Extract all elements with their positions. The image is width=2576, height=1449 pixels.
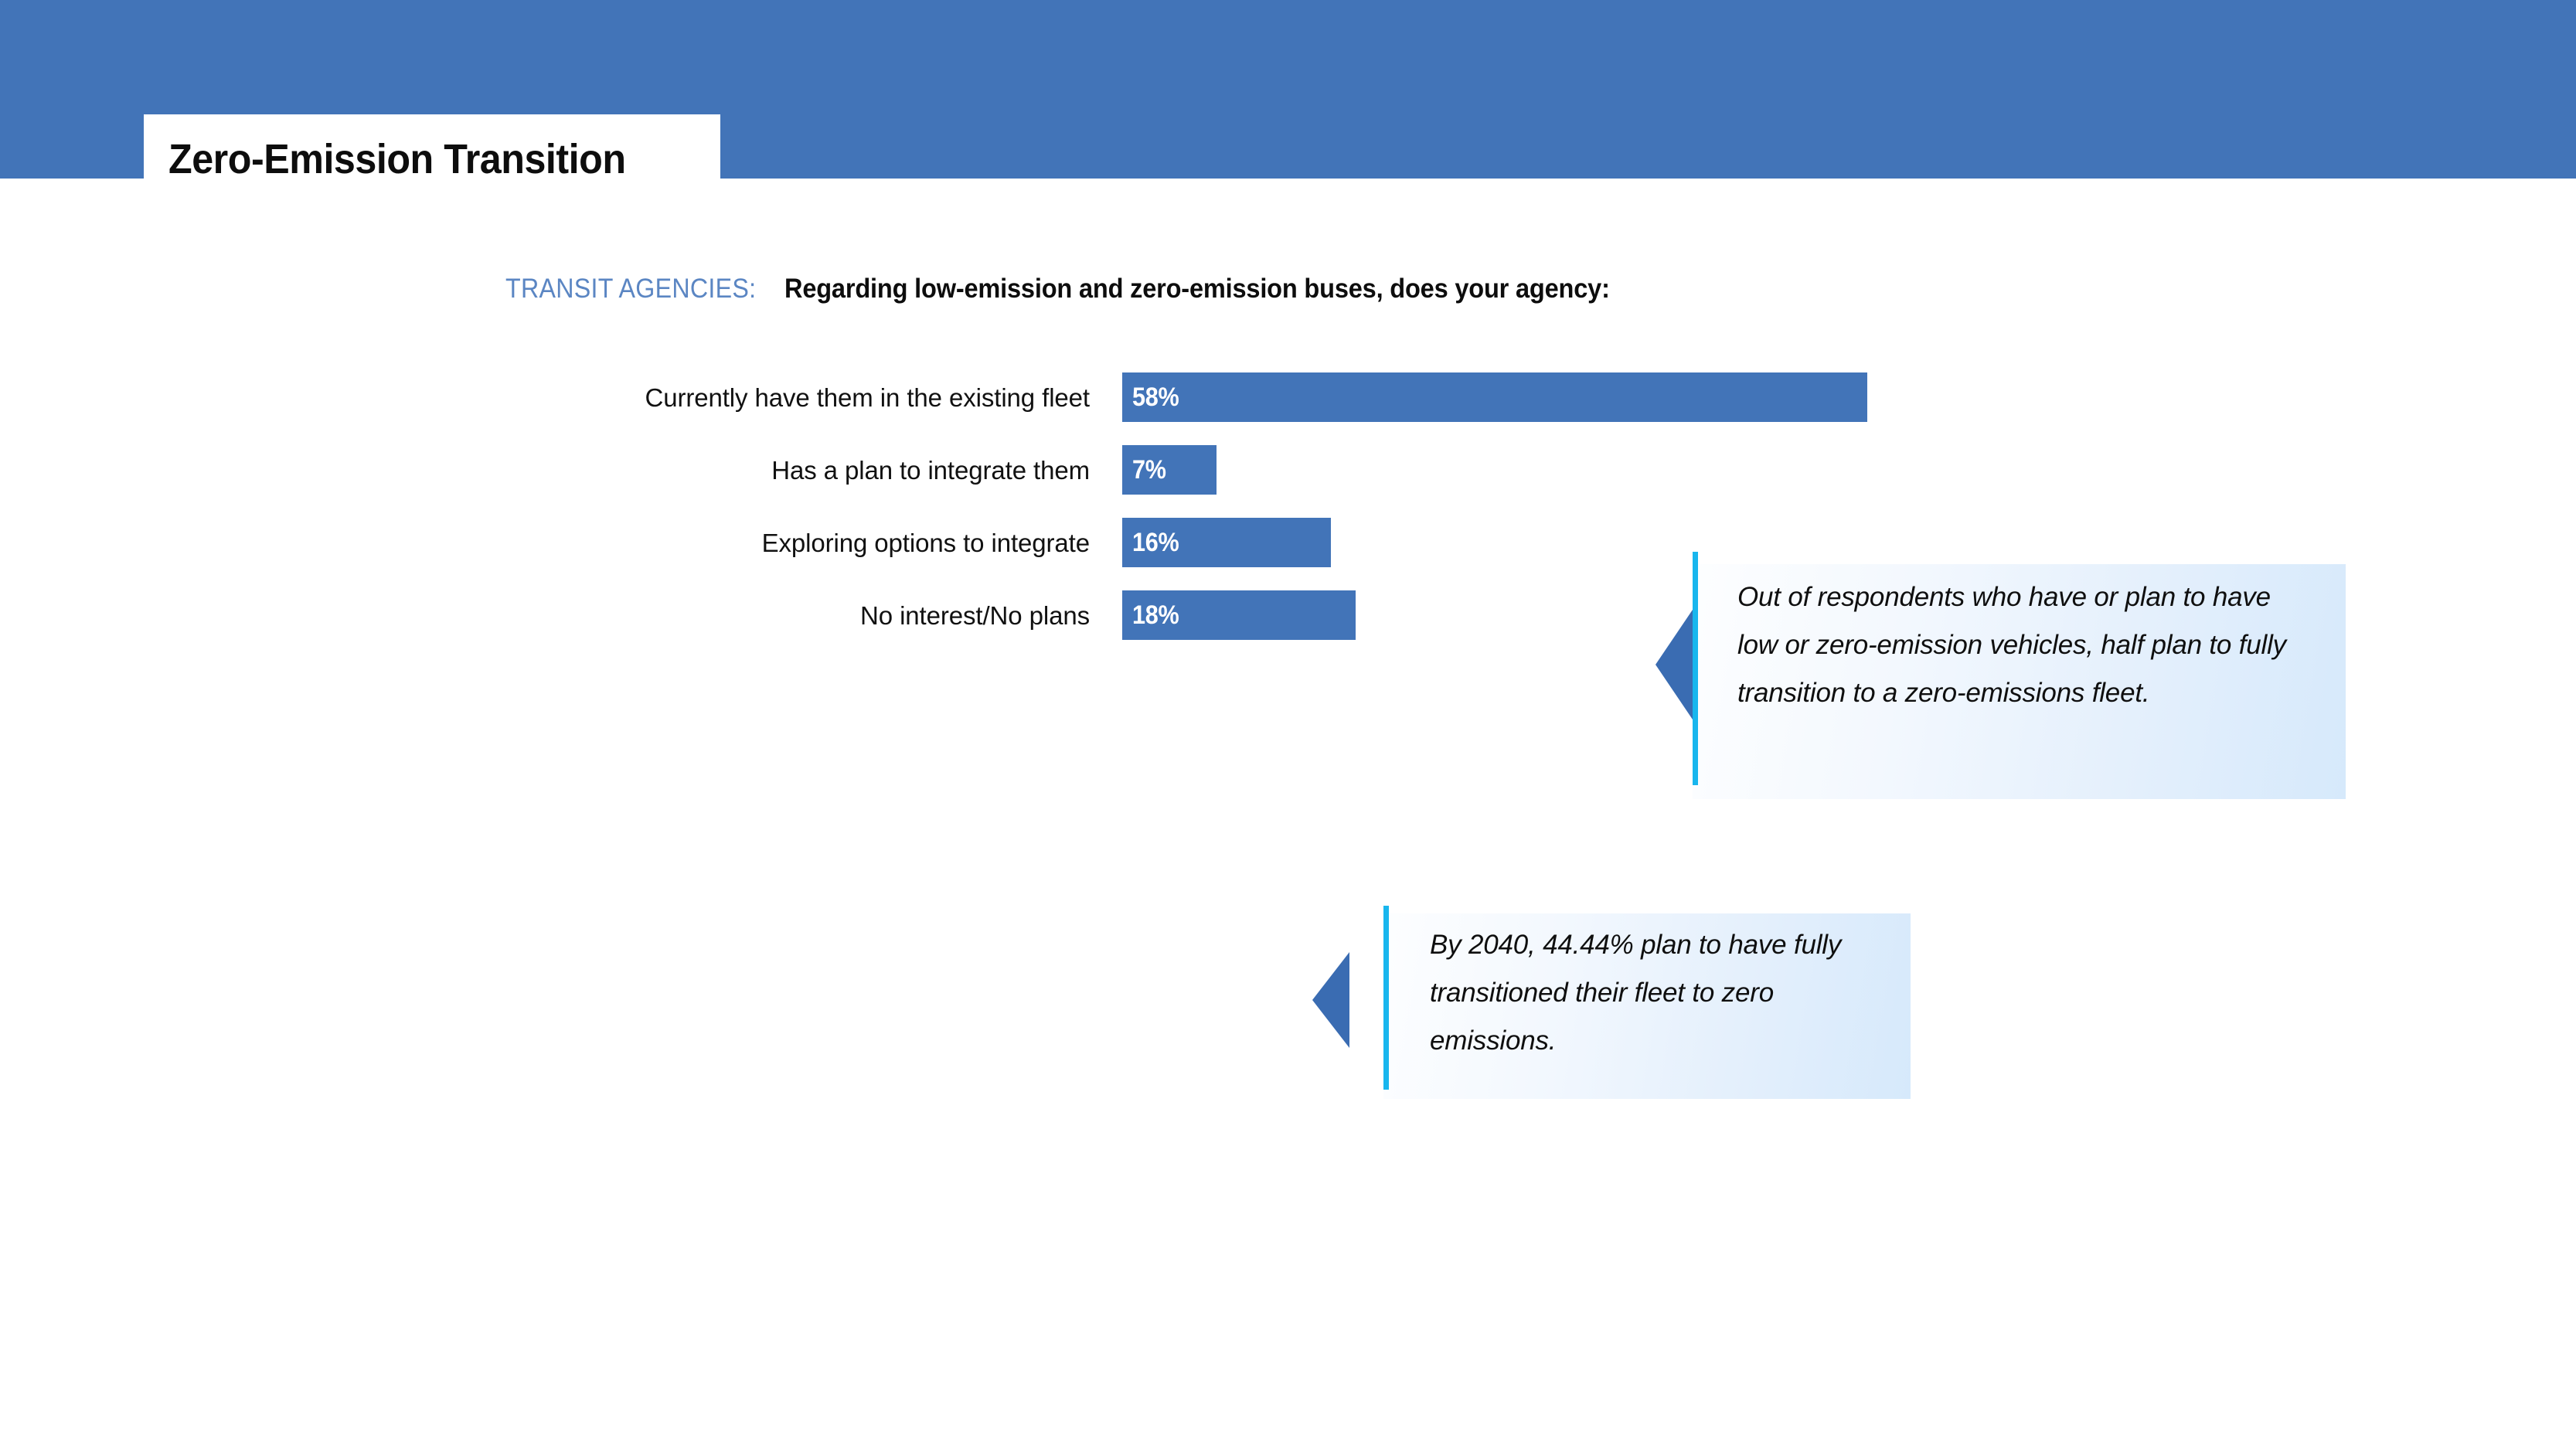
callout-text: By 2040, 44.44% plan to have fully trans… bbox=[1430, 921, 1894, 1065]
bar-value-label: 58% bbox=[1132, 383, 1179, 413]
callout-accent-rule bbox=[1383, 906, 1389, 1090]
bar-row: Currently have them in the existing flee… bbox=[0, 372, 2576, 445]
question-line: TRANSIT AGENCIES:Regarding low-emission … bbox=[505, 272, 1672, 306]
page-title: Zero-Emission Transition bbox=[168, 135, 626, 183]
bar-value-label: 16% bbox=[1132, 528, 1179, 558]
bar: 7% bbox=[1122, 445, 1217, 495]
callout-text: Out of respondents who have or plan to h… bbox=[1737, 573, 2294, 717]
bar-category-label: Has a plan to integrate them bbox=[317, 456, 1090, 485]
bar-category-label: No interest/No plans bbox=[317, 601, 1090, 631]
bar: 18% bbox=[1122, 590, 1356, 640]
callout-arrow-icon bbox=[1312, 952, 1349, 1048]
bar-value-label: 7% bbox=[1132, 455, 1166, 485]
bar-track: 58% bbox=[1122, 372, 1867, 422]
bar-track: 16% bbox=[1122, 518, 1331, 567]
callout-card: By 2040, 44.44% plan to have fully trans… bbox=[1298, 896, 1932, 1105]
callout-arrow-icon bbox=[1656, 607, 1694, 722]
bar-category-label: Exploring options to integrate bbox=[317, 529, 1090, 558]
bar-row: Has a plan to integrate them 7% bbox=[0, 445, 2576, 518]
bar-track: 7% bbox=[1122, 445, 1217, 495]
question-text: Regarding low-emission and zero-emission… bbox=[784, 272, 1610, 306]
bar: 58% bbox=[1122, 372, 1867, 422]
bar-category-label: Currently have them in the existing flee… bbox=[317, 383, 1090, 413]
bar-track: 18% bbox=[1122, 590, 1356, 640]
question-eyebrow: TRANSIT AGENCIES: bbox=[505, 272, 756, 306]
callout-card: Out of respondents who have or plan to h… bbox=[1662, 552, 2357, 807]
title-box: Zero-Emission Transition bbox=[144, 114, 720, 204]
callout-accent-rule bbox=[1693, 552, 1698, 785]
bar-value-label: 18% bbox=[1132, 600, 1179, 631]
bar: 16% bbox=[1122, 518, 1331, 567]
